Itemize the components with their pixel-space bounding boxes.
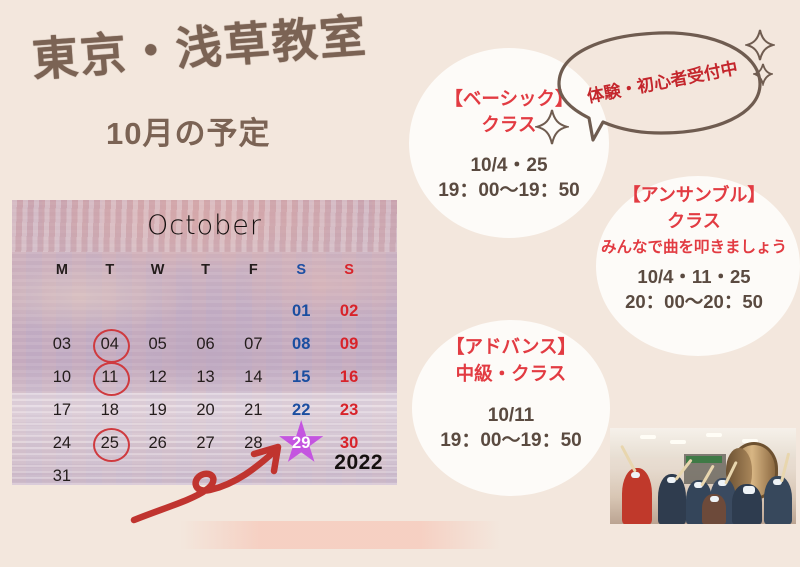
calendar-dow-4: F <box>229 262 277 289</box>
calendar-day-06[interactable]: 06 <box>182 333 230 355</box>
calendar-day-empty <box>134 300 182 322</box>
calendar-day-07[interactable]: 07 <box>229 333 277 355</box>
poster-canvas: 東京・浅草教室 10月の予定 【ベーシック】 クラス 10/4・25 19：00… <box>0 0 800 567</box>
calendar-day-11[interactable]: 11 <box>86 366 134 388</box>
group-photo <box>610 428 796 524</box>
calendar-day-29[interactable]: 29 <box>277 432 325 454</box>
ensemble-class-title-line2: クラス <box>667 211 721 231</box>
calendar-day-18[interactable]: 18 <box>86 399 134 421</box>
calendar-day-empty <box>182 300 230 322</box>
ensemble-class-title: 【アンサンブル】 クラス <box>588 183 800 234</box>
calendar-day-10[interactable]: 10 <box>38 366 86 388</box>
ensemble-class-time: 20：00〜20：50 <box>588 289 800 316</box>
basic-class-time: 19：00〜19：50 <box>409 177 609 205</box>
calendar-day-empty <box>86 300 134 322</box>
ensemble-class-title-line1: 【アンサンブル】 <box>623 185 766 205</box>
calendar-day-08[interactable]: 08 <box>277 333 325 355</box>
advance-class-title: 【アドバンス】 中級・クラス <box>410 333 612 387</box>
advance-class-title-line1: 【アドバンス】 <box>446 336 576 357</box>
calendar-day-14[interactable]: 14 <box>229 366 277 388</box>
calendar-day-empty <box>38 300 86 322</box>
ensemble-class-dates: 10/4・11・25 <box>588 263 800 289</box>
advance-class-card: 【アドバンス】 中級・クラス 10/11 19：00〜19：50 <box>410 333 612 455</box>
calendar-dow-5: S <box>277 262 325 289</box>
basic-class-dates: 10/4・25 <box>409 150 609 177</box>
calendar-day-03[interactable]: 03 <box>38 333 86 355</box>
speech-bubble: 体験・初心者受付中 <box>553 28 765 148</box>
page-title: 東京・浅草教室 <box>30 0 434 90</box>
ensemble-class-card: 【アンサンブル】 クラス みんなで曲を叩きましょう 10/4・11・25 20：… <box>588 183 800 316</box>
advance-class-time: 19：00〜19：50 <box>410 427 612 455</box>
sparkle-basic-icon <box>535 108 569 151</box>
calendar-day-24[interactable]: 24 <box>38 432 86 454</box>
sparkle-small-icon <box>753 62 773 91</box>
calendar-day-17[interactable]: 17 <box>38 399 86 421</box>
calendar-day-16[interactable]: 16 <box>325 366 373 388</box>
calendar-year-label: 2022 <box>334 451 383 475</box>
calendar-day-21[interactable]: 21 <box>229 399 277 421</box>
basic-class-title-line2: クラス <box>481 114 536 135</box>
calendar-day-05[interactable]: 05 <box>134 333 182 355</box>
calendar-day-01[interactable]: 01 <box>277 300 325 322</box>
calendar-day-31[interactable]: 31 <box>38 465 86 485</box>
calendar-day-12[interactable]: 12 <box>134 366 182 388</box>
page-subtitle: 10月の予定 <box>106 108 432 153</box>
calendar-day-20[interactable]: 20 <box>182 399 230 421</box>
footer-bar: 一輝太鼓道 浅草教室 発表会！ …tokyo@wataiko-ikki.com <box>0 514 800 562</box>
title-block: 東京・浅草教室 10月の予定 <box>32 24 432 153</box>
calendar-day-19[interactable]: 19 <box>134 399 182 421</box>
calendar-day-empty <box>229 300 277 322</box>
calendar-day-13[interactable]: 13 <box>182 366 230 388</box>
calendar-day-09[interactable]: 09 <box>325 333 373 355</box>
calendar-month-label: October <box>12 210 397 241</box>
calendar-dow-6: S <box>325 262 373 289</box>
calendar-dow-0: M <box>38 262 86 289</box>
ensemble-class-note: みんなで曲を叩きましょう <box>588 235 800 257</box>
calendar-day-22[interactable]: 22 <box>277 399 325 421</box>
advance-class-title-line2: 中級・クラス <box>456 363 567 384</box>
calendar-day-empty <box>86 465 134 485</box>
calendar-day-23[interactable]: 23 <box>325 399 373 421</box>
calendar-day-04[interactable]: 04 <box>86 333 134 355</box>
calendar-dow-2: W <box>134 262 182 289</box>
calendar-day-15[interactable]: 15 <box>277 366 325 388</box>
calendar-day-02[interactable]: 02 <box>325 300 373 322</box>
advance-class-dates: 10/11 <box>410 405 612 427</box>
calendar-day-25[interactable]: 25 <box>86 432 134 454</box>
calendar-dow-1: T <box>86 262 134 289</box>
calendar-dow-3: T <box>182 262 230 289</box>
